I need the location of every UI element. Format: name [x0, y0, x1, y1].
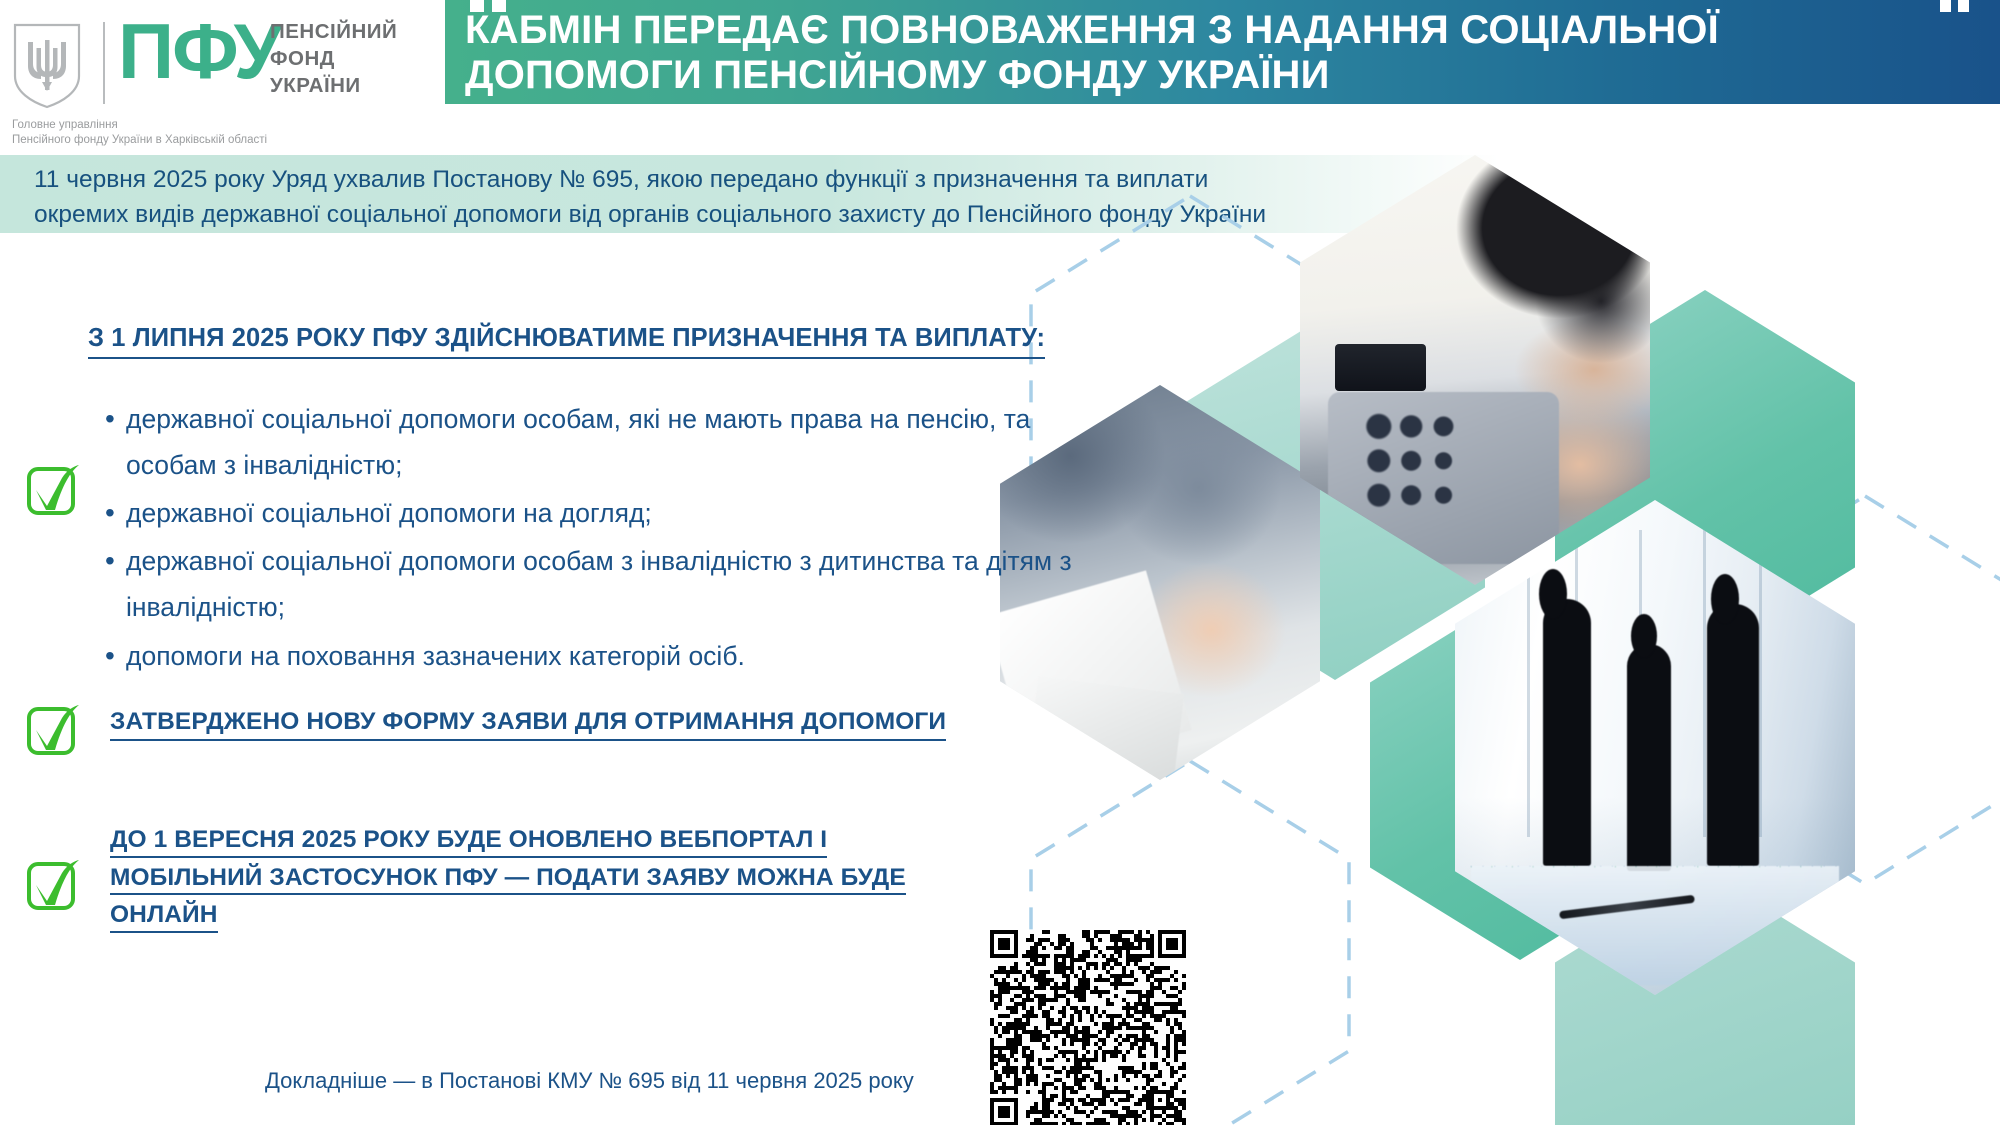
pfu-logo-block: ПФУ ПЕНСІЙНИЙ ФОНД УКРАЇНИ Головне управ… — [0, 0, 430, 150]
list-item-label: допомоги на поховання зазначених категор… — [126, 633, 745, 679]
checkmark-glyph-icon — [22, 855, 84, 917]
infographic-page: ПФУ ПЕНСІЙНИЙ ФОНД УКРАЇНИ Головне управ… — [0, 0, 2000, 1125]
header-notch — [492, 0, 506, 12]
bullet-dot-icon: • — [100, 396, 126, 442]
qr-code-image — [990, 930, 1186, 1125]
header-notch — [470, 0, 484, 12]
checkmark-glyph-icon — [22, 460, 84, 522]
check-icon — [22, 460, 84, 522]
pfu-abbreviation: ПФУ — [118, 12, 280, 90]
bullet-dot-icon: • — [100, 538, 126, 584]
statement-line: ДО 1 ВЕРЕСНЯ 2025 РОКУ БУДЕ ОНОВЛЕНО ВЕБ… — [110, 828, 827, 858]
statement-online-portal: ДО 1 ВЕРЕСНЯ 2025 РОКУ БУДЕ ОНОВЛЕНО ВЕБ… — [110, 828, 1070, 941]
regional-office-label: Головне управління Пенсійного фонду Укра… — [12, 118, 267, 149]
ukraine-coat-of-arms-icon — [12, 22, 82, 110]
bullet-dot-icon: • — [100, 490, 126, 536]
benefit-types-list: • державної соціальної допомоги особам, … — [100, 396, 1110, 681]
checkmark-glyph-icon — [22, 700, 84, 762]
list-item-label: державної соціальної допомоги особам, як… — [126, 396, 1110, 488]
statement-line: ЗАТВЕРДЖЕНО НОВУ ФОРМУ ЗАЯВИ ДЛЯ ОТРИМАН… — [110, 708, 946, 741]
footer-reference-note: Докладніше — в Постанові КМУ № 695 від 1… — [265, 1068, 914, 1094]
check-icon — [22, 855, 84, 917]
check-icon — [22, 700, 84, 762]
qr-code[interactable] — [990, 930, 1186, 1125]
logo-divider — [103, 22, 105, 104]
header-banner: КАБМІН ПЕРЕДАЄ ПОВНОВАЖЕННЯ З НАДАННЯ СО… — [445, 0, 2000, 104]
statement-new-application-form: ЗАТВЕРДЖЕНО НОВУ ФОРМУ ЗАЯВИ ДЛЯ ОТРИМАН… — [110, 708, 1110, 749]
header-notch — [1958, 0, 1969, 12]
list-item-label: державної соціальної допомоги на догляд; — [126, 490, 652, 536]
statement-line: МОБІЛЬНИЙ ЗАСТОСУНОК ПФУ — ПОДАТИ ЗАЯВУ … — [110, 866, 906, 896]
bullet-dot-icon: • — [100, 633, 126, 679]
list-item-label: державної соціальної допомоги особам з і… — [126, 538, 1110, 630]
header-title: КАБМІН ПЕРЕДАЄ ПОВНОВАЖЕННЯ З НАДАННЯ СО… — [465, 8, 2000, 98]
hexagon-photo-collage — [1060, 170, 2000, 1125]
header-notch — [1940, 0, 1951, 12]
list-item: • державної соціальної допомоги особам, … — [100, 396, 1110, 488]
list-item: • державної соціальної допомоги на догля… — [100, 490, 1110, 536]
list-item: • допомоги на поховання зазначених катег… — [100, 633, 1110, 679]
pfu-full-name: ПЕНСІЙНИЙ ФОНД УКРАЇНИ — [270, 18, 397, 99]
statement-line: ОНЛАЙН — [110, 903, 218, 933]
page-section-heading: З 1 ЛИПНЯ 2025 РОКУ ПФУ ЗДІЙСНЮВАТИМЕ ПР… — [88, 324, 1045, 359]
list-item: • державної соціальної допомоги особам з… — [100, 538, 1110, 630]
